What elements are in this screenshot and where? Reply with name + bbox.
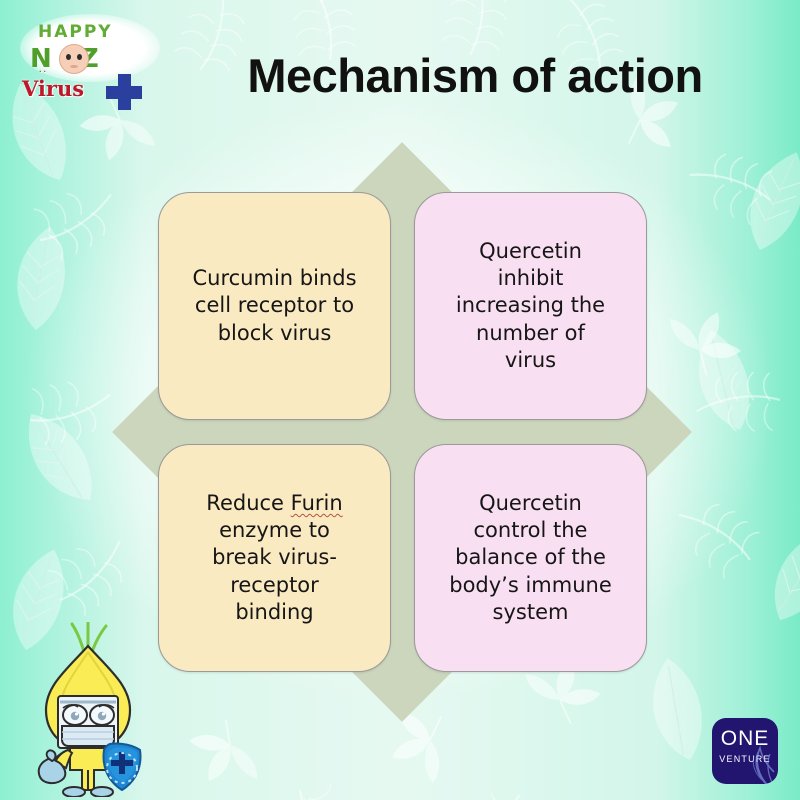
nose-face-nostrils [70,65,78,68]
nose-face-icon [59,44,89,74]
poster-canvas: HAPPY NOZ ˙˙ Virus Mechanism of action C… [0,0,800,800]
badge-flourish-icon [740,736,778,784]
logo-virus-text: ˙˙ Virus [22,76,84,101]
logo-virus-word: Virus [22,76,84,101]
logo-noz-n: N [30,44,55,74]
card-text-after: enzyme to break virus- receptor binding [212,518,337,624]
brand-logo[interactable]: HAPPY NOZ ˙˙ Virus [14,12,164,112]
misspelled-word-furin: Furin [291,491,343,515]
one-venture-badge[interactable]: ONE VENTURE [712,718,778,784]
card-text: Curcumin binds cell receptor to block vi… [192,265,356,347]
card-quercetin-inhibit[interactable]: Quercetin inhibit increasing the number … [414,192,647,420]
page-title: Mechanism of action [170,42,780,108]
card-quercetin-control[interactable]: Quercetin control the balance of the bod… [414,444,647,672]
card-curcumin-binds[interactable]: Curcumin binds cell receptor to block vi… [158,192,391,420]
card-reduce-furin[interactable]: Reduce Furin enzyme to break virus- rece… [158,444,391,672]
nose-face-eye-right [77,54,82,60]
card-text: Reduce Furin enzyme to break virus- rece… [206,490,342,626]
logo-happy-text: HAPPY [38,22,113,42]
card-text: Quercetin inhibit increasing the number … [456,238,605,374]
mechanism-card-grid: Curcumin binds cell receptor to block vi… [158,192,648,672]
card-text: Quercetin control the balance of the bod… [449,490,612,626]
card-text-before: Reduce [206,491,290,515]
nose-face-eye-left [66,54,71,60]
logo-virus-dots: ˙˙ [38,71,47,81]
onion-hazmat-mascot [18,622,158,797]
plus-icon [106,74,142,110]
